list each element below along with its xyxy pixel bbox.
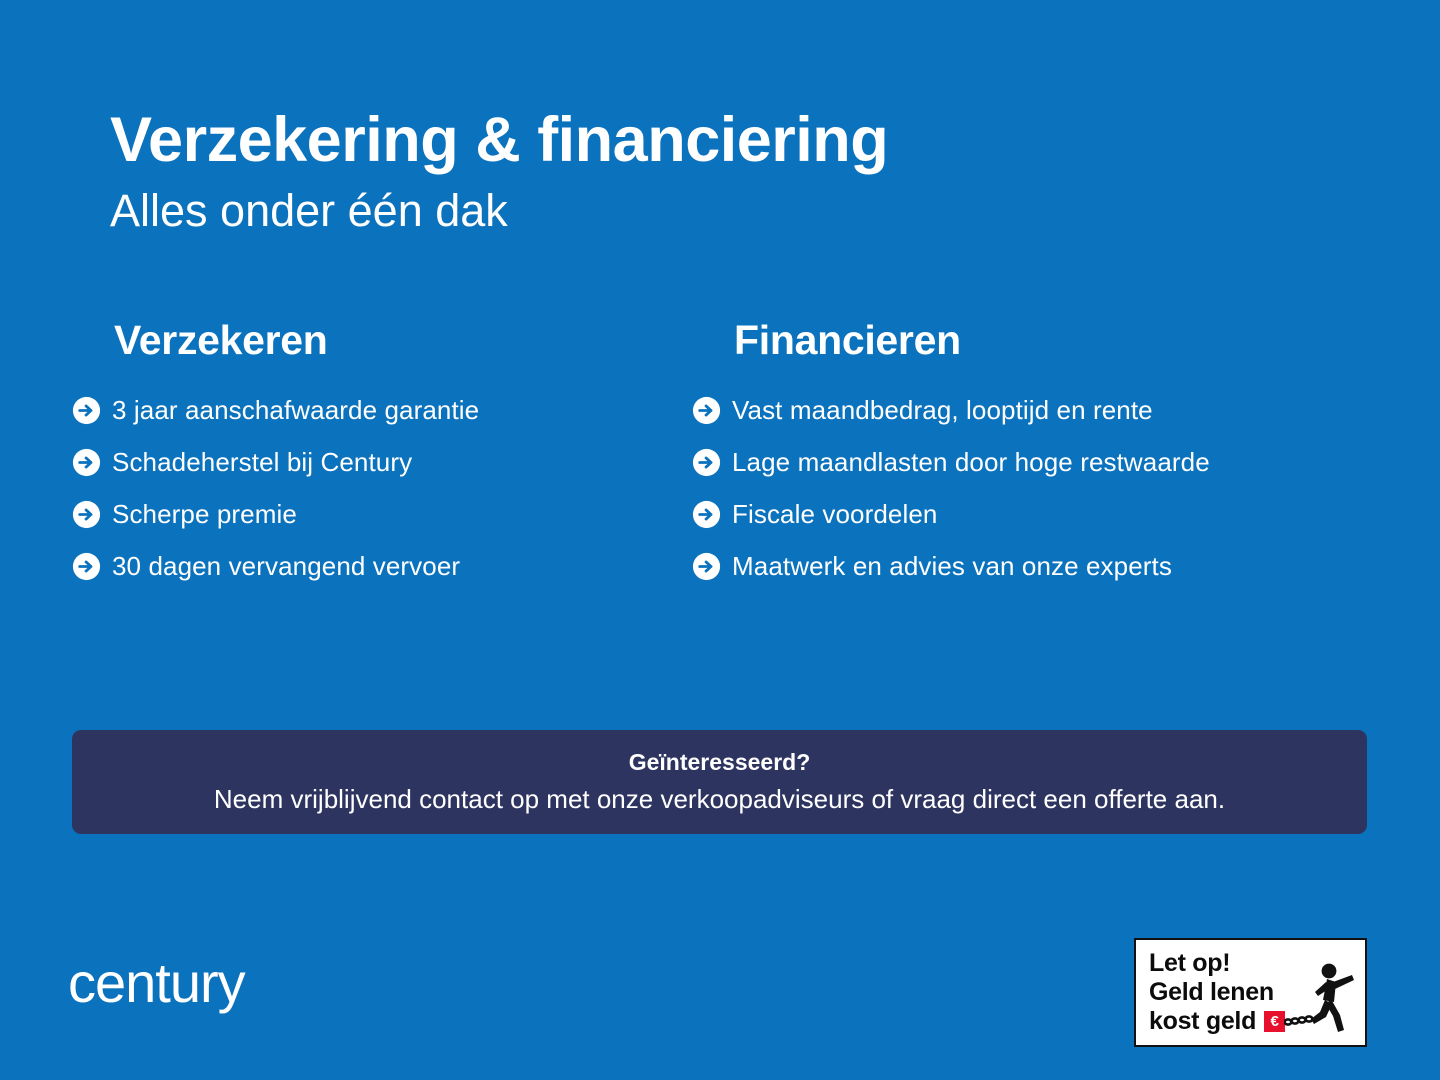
column-heading-verzekeren: Verzekeren [114,318,692,363]
credit-warning-line-3: kost geld [1149,1007,1256,1036]
list-item-label: Vast maandbedrag, looptijd en rente [732,395,1153,426]
credit-warning-line-3-row: kost geld € [1149,1007,1285,1036]
arrow-right-circle-icon [72,552,101,581]
walking-person-with-ball-and-chain-icon [1284,962,1356,1036]
credit-warning-line-2: Geld lenen [1149,978,1285,1007]
cta-heading: Geïnteresseerd? [629,748,811,777]
list-item: Maatwerk en advies van onze experts [692,540,1392,592]
arrow-right-circle-icon [692,500,721,529]
list-item: Lage maandlasten door hoge restwaarde [692,436,1392,488]
cta-body: Neem vrijblijvend contact op met onze ve… [214,783,1225,816]
page-title: Verzekering & financiering [110,108,1310,174]
arrow-right-circle-icon [692,552,721,581]
bullet-list-financieren: Vast maandbedrag, looptijd en rente Lage… [692,384,1392,592]
column-verzekeren: Verzekeren 3 jaar aanschafwaarde garanti… [72,318,692,592]
list-item-label: 30 dagen vervangend vervoer [112,551,460,582]
arrow-right-circle-icon [72,500,101,529]
slide-root: Verzekering & financiering Alles onder é… [0,0,1440,1080]
arrow-right-circle-icon [72,396,101,425]
bullet-list-verzekeren: 3 jaar aanschafwaarde garantie Schadeher… [72,384,692,592]
arrow-right-circle-icon [72,448,101,477]
header: Verzekering & financiering Alles onder é… [110,108,1310,237]
list-item: 30 dagen vervangend vervoer [72,540,692,592]
column-heading-financieren: Financieren [734,318,1392,363]
list-item: Fiscale voordelen [692,488,1392,540]
list-item: Schadeherstel bij Century [72,436,692,488]
feature-columns: Verzekeren 3 jaar aanschafwaarde garanti… [0,318,1440,592]
century-logo: century [68,955,245,1011]
list-item-label: Maatwerk en advies van onze experts [732,551,1172,582]
list-item: Scherpe premie [72,488,692,540]
list-item-label: 3 jaar aanschafwaarde garantie [112,395,479,426]
credit-warning-line-1: Let op! [1149,949,1285,978]
credit-warning-text: Let op! Geld lenen kost geld € [1149,949,1285,1036]
list-item-label: Schadeherstel bij Century [112,447,412,478]
euro-ball-icon: € [1264,1011,1285,1032]
column-financieren: Financieren Vast maandbedrag, looptijd e… [692,318,1392,592]
list-item-label: Fiscale voordelen [732,499,937,530]
cta-banner: Geïnteresseerd? Neem vrijblijvend contac… [72,730,1367,834]
list-item-label: Lage maandlasten door hoge restwaarde [732,447,1210,478]
list-item: Vast maandbedrag, looptijd en rente [692,384,1392,436]
list-item: 3 jaar aanschafwaarde garantie [72,384,692,436]
list-item-label: Scherpe premie [112,499,297,530]
arrow-right-circle-icon [692,448,721,477]
credit-warning-box: Let op! Geld lenen kost geld € [1134,938,1367,1047]
arrow-right-circle-icon [692,396,721,425]
page-subtitle: Alles onder één dak [110,184,1310,237]
